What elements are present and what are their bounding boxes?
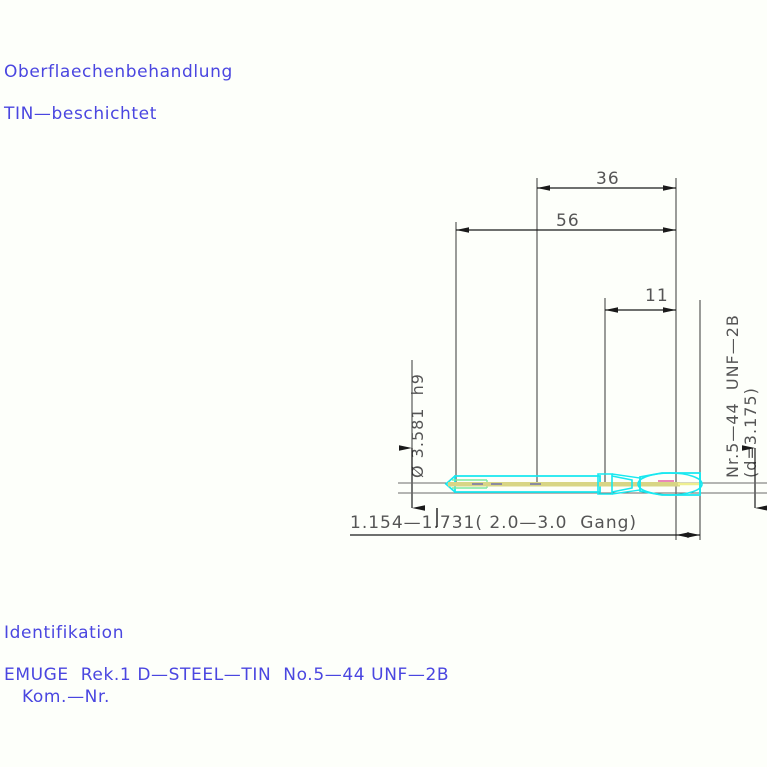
technical-drawing-page: Oberflaechenbehandlung TIN—beschichtet 3… <box>0 0 767 767</box>
tool-body-profile <box>446 473 702 495</box>
drawing-canvas <box>0 0 767 767</box>
dimension-line-chamfer <box>350 508 700 535</box>
